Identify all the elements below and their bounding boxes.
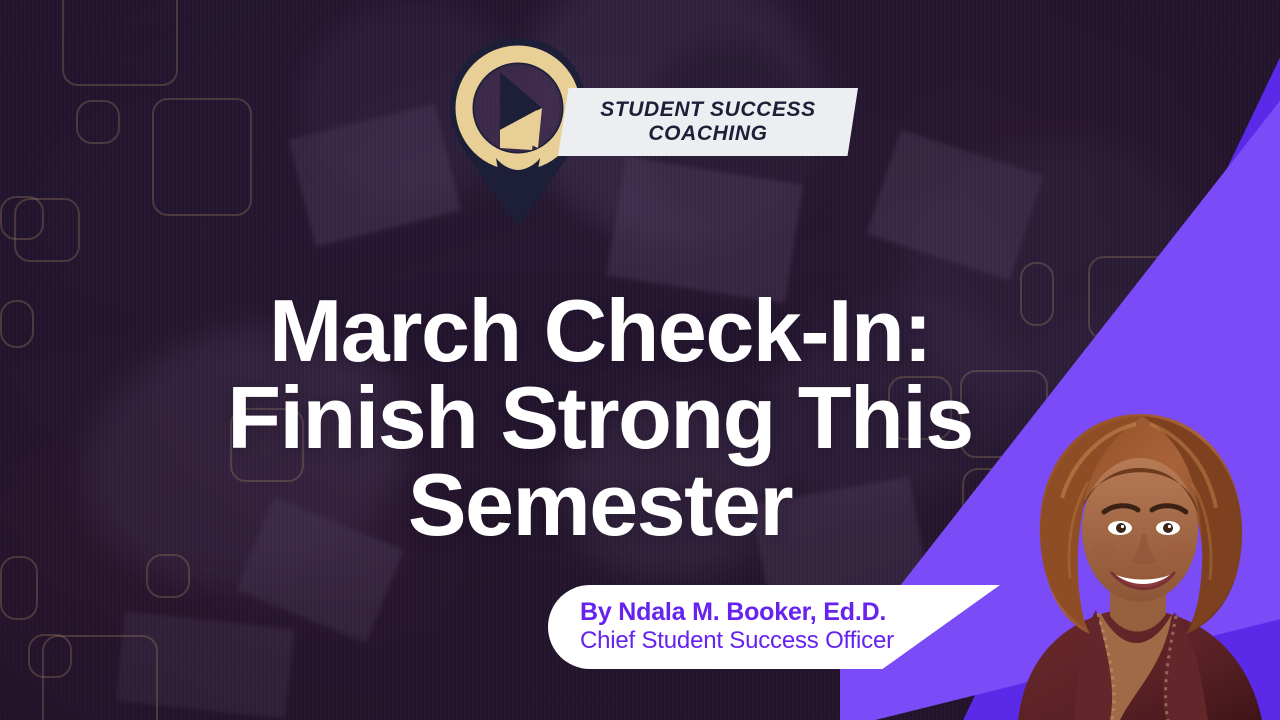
page-title: March Check-In: Finish Strong This Semes… — [150, 287, 1050, 548]
brand-banner-text: STUDENT SUCCESS COACHING — [600, 98, 816, 145]
decorative-rounded-square — [62, 0, 178, 86]
byline-author-name: By Ndala M. Booker, Ed.D. — [580, 598, 1000, 627]
poster-canvas: STUDENT SUCCESS COACHING March Check-In:… — [0, 0, 1280, 720]
decorative-rounded-square — [0, 300, 34, 348]
brand-banner: STUDENT SUCCESS COACHING — [558, 88, 858, 156]
speaker-portrait — [1000, 398, 1280, 720]
decorative-rounded-square — [152, 98, 252, 216]
decorative-rounded-square — [0, 556, 38, 620]
portrait-illustration — [1000, 398, 1280, 720]
decorative-rounded-square — [28, 634, 72, 678]
decorative-rounded-square — [14, 198, 80, 262]
decorative-rounded-square — [76, 100, 120, 144]
decorative-rounded-square — [146, 554, 190, 598]
